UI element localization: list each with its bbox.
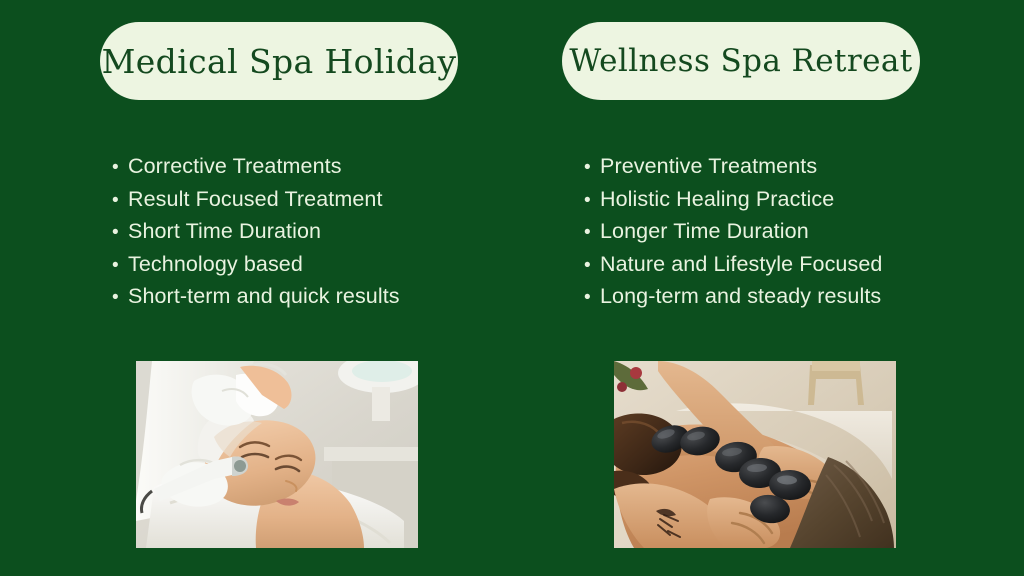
list-item: • Corrective Treatments <box>112 150 400 183</box>
list-item: • Long-term and steady results <box>584 280 882 313</box>
list-item: • Short-term and quick results <box>112 280 400 313</box>
list-item: • Holistic Healing Practice <box>584 183 882 216</box>
list-item-label: Longer Time Duration <box>600 215 809 248</box>
list-item-label: Nature and Lifestyle Focused <box>600 248 882 281</box>
bullet-dot-icon: • <box>112 250 128 283</box>
list-item: • Nature and Lifestyle Focused <box>584 248 882 281</box>
bullet-dot-icon: • <box>112 152 128 185</box>
list-item: • Technology based <box>112 248 400 281</box>
list-item: • Short Time Duration <box>112 215 400 248</box>
list-item: • Preventive Treatments <box>584 150 882 183</box>
bullet-dot-icon: • <box>584 152 600 185</box>
bullet-list-medical-spa-holiday: • Corrective Treatments • Result Focused… <box>112 150 400 313</box>
list-item-label: Corrective Treatments <box>128 150 342 183</box>
title-medical-spa-holiday: Medical Spa Holiday <box>102 45 457 78</box>
bullet-dot-icon: • <box>112 185 128 218</box>
bullet-dot-icon: • <box>584 185 600 218</box>
bullet-list-wellness-spa-retreat: • Preventive Treatments • Holistic Heali… <box>584 150 882 313</box>
title-wellness-spa-retreat: Wellness Spa Retreat <box>569 46 912 77</box>
bullet-dot-icon: • <box>112 217 128 250</box>
list-item-label: Short-term and quick results <box>128 280 400 313</box>
list-item-label: Technology based <box>128 248 303 281</box>
facial-treatment-photo <box>136 361 418 548</box>
hot-stone-massage-photo <box>614 361 896 548</box>
list-item-label: Result Focused Treatment <box>128 183 383 216</box>
bullet-dot-icon: • <box>584 250 600 283</box>
list-item-label: Short Time Duration <box>128 215 321 248</box>
bullet-dot-icon: • <box>584 282 600 315</box>
list-item: • Longer Time Duration <box>584 215 882 248</box>
title-pill-wellness-spa-retreat: Wellness Spa Retreat <box>562 22 920 100</box>
bullet-dot-icon: • <box>584 217 600 250</box>
bullet-dot-icon: • <box>112 282 128 315</box>
list-item-label: Long-term and steady results <box>600 280 881 313</box>
slide-canvas: Medical Spa Holiday • Corrective Treatme… <box>0 0 1024 576</box>
list-item: • Result Focused Treatment <box>112 183 400 216</box>
title-pill-medical-spa-holiday: Medical Spa Holiday <box>100 22 458 100</box>
list-item-label: Holistic Healing Practice <box>600 183 834 216</box>
list-item-label: Preventive Treatments <box>600 150 817 183</box>
